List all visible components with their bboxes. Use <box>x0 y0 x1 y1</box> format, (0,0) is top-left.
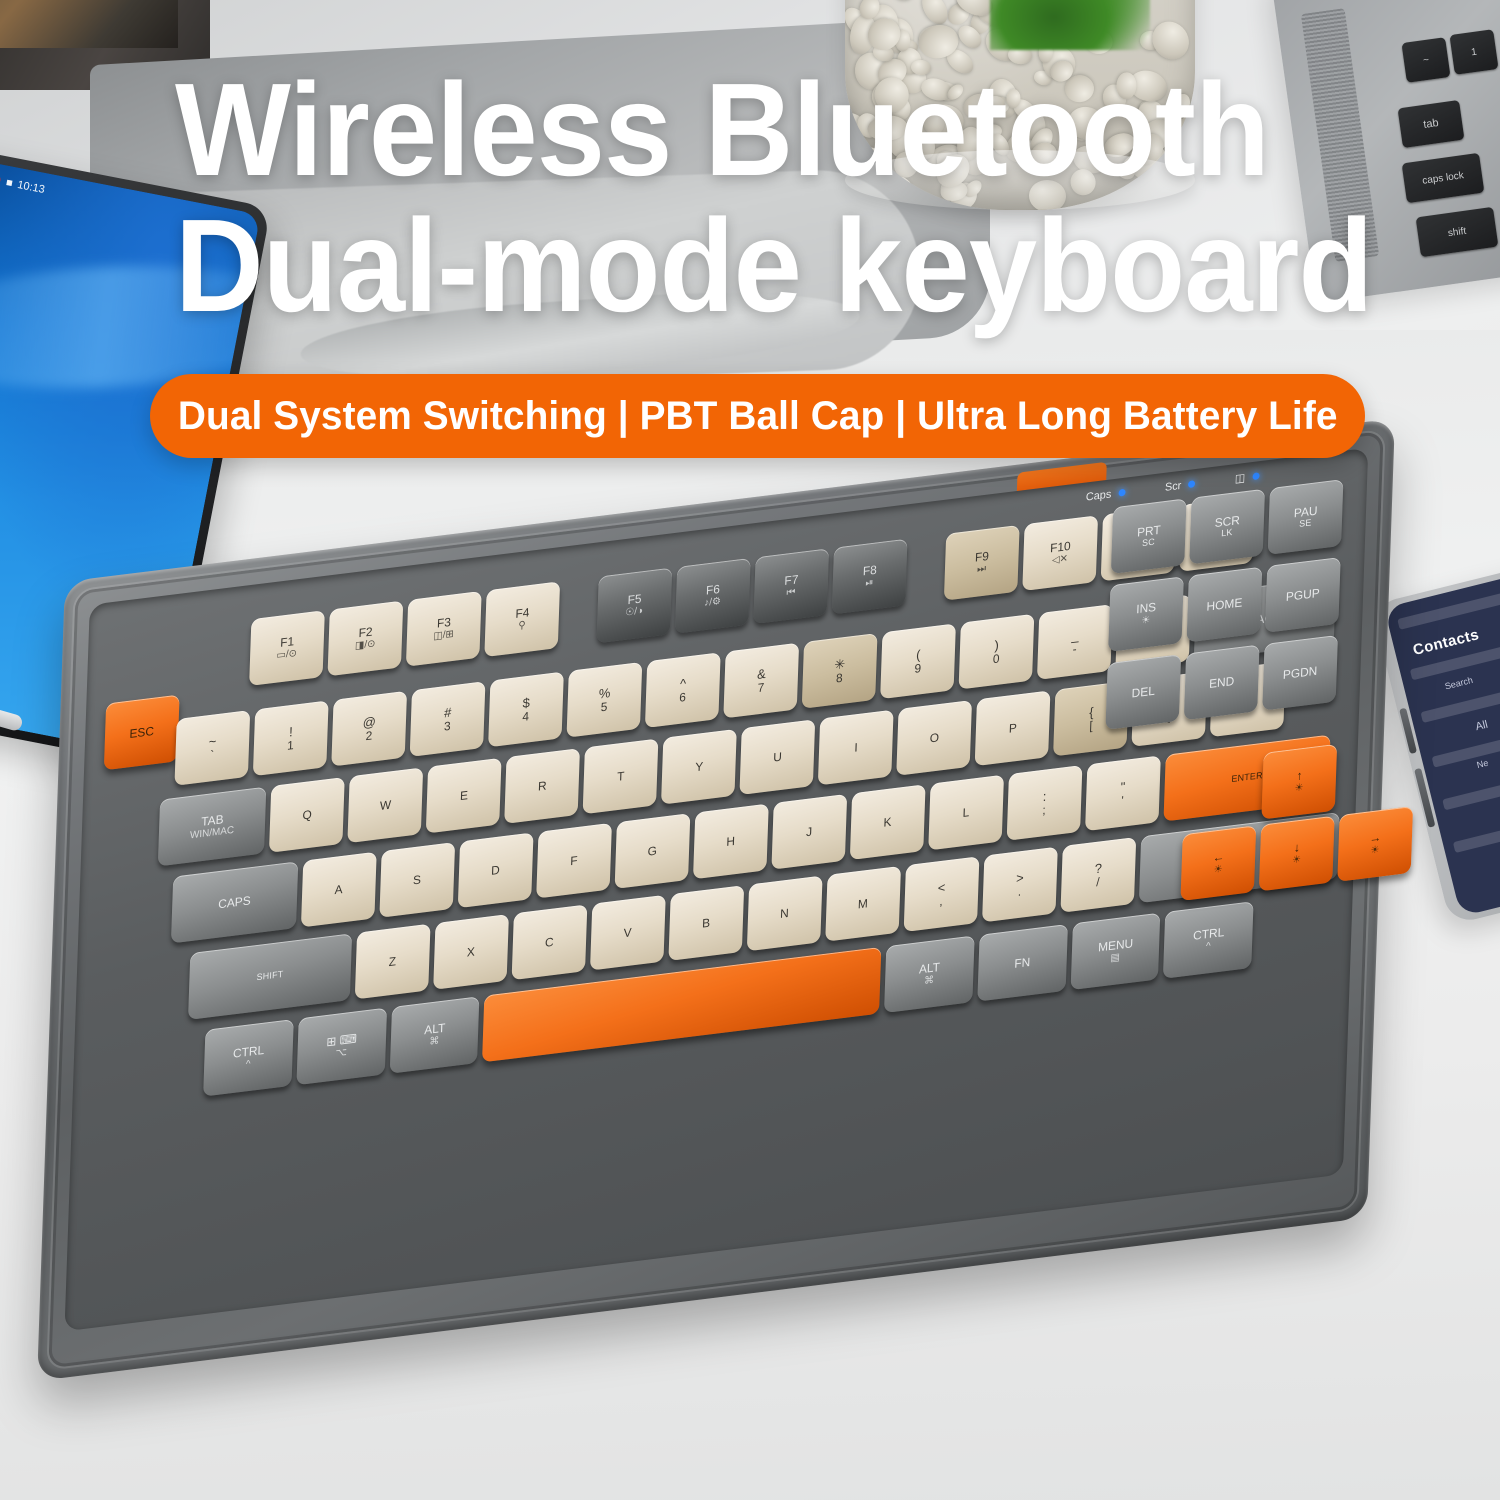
phone-tab-all[interactable]: All <box>1474 719 1489 734</box>
key-pgdn[interactable]: PGDN <box>1262 635 1338 711</box>
laptop-key-tab[interactable]: tab <box>1398 100 1465 148</box>
key-sublegend-icon: ◁✕ <box>1052 554 1068 566</box>
option-icon: ⌥ <box>335 1048 347 1060</box>
key-legend: B <box>702 916 710 930</box>
battery-icon: ◫ <box>1235 471 1246 485</box>
key-legend: ; <box>1042 803 1046 816</box>
key-f9[interactable]: F9⏭ <box>944 525 1020 601</box>
key-legend: N <box>780 907 789 921</box>
key-legend: A <box>334 883 342 897</box>
key-f7[interactable]: F7⏮ <box>753 548 829 624</box>
key-legend: 2 <box>365 729 372 742</box>
key-sublegend-icon: ☀ <box>1141 616 1150 628</box>
key-legend: 1 <box>287 738 294 751</box>
key-legend: P <box>1009 721 1017 735</box>
key-sublegend-icon: ⏮ <box>786 588 795 600</box>
key-8[interactable]: ✳8 <box>802 633 878 709</box>
key-b[interactable]: B <box>668 885 744 961</box>
key-z[interactable]: Z <box>355 924 431 1000</box>
key-legend: PGUP <box>1286 587 1320 604</box>
phone-list-item: Ne <box>1476 758 1490 770</box>
key-ins[interactable]: INS☀ <box>1108 576 1184 652</box>
key-sublegend-icon: ◫/⊞ <box>433 630 454 643</box>
monitor-wallpaper <box>0 0 178 48</box>
key-g[interactable]: G <box>614 813 690 889</box>
key-6[interactable]: ^6 <box>645 652 721 728</box>
key-legend-shifted: > <box>1016 871 1024 886</box>
key-k[interactable]: K <box>850 784 926 860</box>
key-f4[interactable]: F4⚲ <box>484 581 560 657</box>
laptop-key-tilde[interactable]: ~ <box>1401 37 1450 83</box>
headline-line-1: Wireless Bluetooth <box>175 56 1269 203</box>
key-home[interactable]: HOME <box>1187 567 1263 643</box>
key-scr[interactable]: SCRLK <box>1189 489 1265 565</box>
key-legend-shifted: _ <box>1071 628 1079 643</box>
key-legend: F3 <box>437 615 451 629</box>
key-3[interactable]: #3 <box>410 681 486 757</box>
key-f8[interactable]: F8⏯ <box>832 539 908 615</box>
key-pau[interactable]: PAUSE <box>1268 479 1344 555</box>
key-j[interactable]: J <box>771 794 847 870</box>
key-legend: 7 <box>757 681 764 694</box>
key-arrow-down[interactable]: ↓☀ <box>1259 816 1335 892</box>
key-legend: ` <box>210 748 214 761</box>
key-f[interactable]: F <box>536 823 612 899</box>
key-f3[interactable]: F3◫/⊞ <box>406 591 482 667</box>
key-legend: O <box>930 731 940 745</box>
caps-lock-label: Caps <box>1086 488 1112 503</box>
key-end[interactable]: END <box>1184 645 1260 721</box>
key-legend: SHIFT <box>256 970 283 983</box>
key-legend-shifted: ) <box>994 638 999 652</box>
key-h[interactable]: H <box>693 804 769 880</box>
key-legend: ↑ <box>1296 769 1302 782</box>
key-ctrl[interactable]: CTRL^ <box>1163 901 1253 979</box>
key-legend: 4 <box>522 710 529 723</box>
product-ad-scene: ~ 1 tab caps lock shift Contacts Search … <box>0 0 1500 1500</box>
caps-lock-led <box>1118 489 1125 497</box>
key-sublegend-icon: ⏭ <box>977 564 986 576</box>
key-del[interactable]: DEL <box>1105 654 1181 730</box>
key-f10[interactable]: F10◁✕ <box>1022 515 1098 591</box>
key-legend: ALT <box>919 960 940 975</box>
key-legend: C <box>545 935 554 949</box>
key-0[interactable]: )0 <box>959 614 1035 690</box>
key-legend-shifted: ~ <box>209 734 217 749</box>
key-sublegend-icon: ▭/⊙ <box>276 649 297 662</box>
key-[interactable]: ~` <box>174 710 250 786</box>
key-legend: K <box>883 815 891 829</box>
key-a[interactable]: A <box>301 852 377 928</box>
pebble <box>918 0 953 28</box>
key-legend: . <box>1018 885 1022 898</box>
key-legend: F4 <box>515 606 529 620</box>
key-v[interactable]: V <box>590 895 666 971</box>
key-sublegend-icon: ⏯ <box>865 578 873 589</box>
key-legend: Q <box>302 808 312 822</box>
key-legend: R <box>538 779 547 793</box>
key-win-option[interactable]: ⊞ ⌨⌥ <box>296 1008 386 1086</box>
key-legend: ENTER <box>1231 771 1263 784</box>
key-legend: Z <box>389 955 397 969</box>
key-legend-shifted: < <box>938 881 946 896</box>
key-arrow-left[interactable]: ←☀ <box>1180 825 1256 901</box>
key-legend-shifted: & <box>757 667 766 682</box>
headline-line-2: Dual-mode keyboard <box>175 198 1328 334</box>
key-legend: ↓ <box>1294 841 1300 854</box>
battery-led <box>1252 472 1259 480</box>
key-legend-shifted: : <box>1043 790 1047 804</box>
key-sublegend-icon: ▤ <box>1110 953 1120 965</box>
pebble <box>890 0 918 2</box>
key-sublegend-icon: ☀ <box>1294 783 1303 795</box>
key-9[interactable]: (9 <box>880 623 956 699</box>
key-sublegend-icon: ☀ <box>1370 845 1379 857</box>
key-legend: CTRL <box>233 1043 265 1059</box>
scroll-lock-led <box>1188 480 1195 488</box>
key-legend: 0 <box>993 652 1000 665</box>
key-e[interactable]: E <box>426 758 502 834</box>
key-legend: D <box>491 864 500 878</box>
key-legend: F2 <box>358 625 372 639</box>
key-p[interactable]: P <box>975 690 1051 766</box>
key-2[interactable]: @2 <box>331 691 407 767</box>
key-legend: END <box>1209 675 1235 691</box>
key-fn[interactable]: FN <box>977 924 1067 1002</box>
key-prt[interactable]: PRTSC <box>1111 498 1187 574</box>
key-[interactable]: "' <box>1085 755 1161 831</box>
key-legend: F1 <box>280 635 294 649</box>
key-legend: , <box>939 894 943 907</box>
key-legend: - <box>1072 642 1076 655</box>
key-legend: HOME <box>1206 596 1242 613</box>
key-legend: DEL <box>1131 684 1155 699</box>
mechanical-keyboard: Caps Scr ◫ ESCF1▭/⊙F2◨/⊙F3◫/⊞F4⚲F5☉/◑F6♪… <box>37 418 1395 1381</box>
feature-banner: Dual System Switching | PBT Ball Cap | U… <box>150 374 1365 458</box>
key-o[interactable]: O <box>897 700 973 776</box>
key-w[interactable]: W <box>348 767 424 843</box>
feature-banner-text: Dual System Switching | PBT Ball Cap | U… <box>178 394 1338 439</box>
key-legend: F9 <box>975 549 989 563</box>
key-[interactable]: _- <box>1037 604 1113 680</box>
key-legend: J <box>806 825 812 838</box>
key-legend-shifted: ( <box>916 648 921 662</box>
key-legend: 8 <box>836 671 843 684</box>
key-f6[interactable]: F6♪/⚙ <box>675 558 751 634</box>
key-legend: F <box>570 854 578 868</box>
key-legend: V <box>623 926 631 940</box>
key-sublegend-icon: ^ <box>1206 942 1211 953</box>
key-legend: → <box>1369 831 1381 845</box>
key-legend: ALT <box>424 1021 445 1036</box>
scroll-lock-label: Scr <box>1165 479 1182 493</box>
key-f5[interactable]: F5☉/◑ <box>596 568 672 644</box>
key-legend: 5 <box>601 700 608 713</box>
key-legend: ESC <box>129 725 154 741</box>
key-s[interactable]: S <box>379 842 455 918</box>
key-q[interactable]: Q <box>269 777 345 853</box>
key-legend: [ <box>1089 719 1093 732</box>
key-legend: T <box>617 770 625 784</box>
key-menu[interactable]: MENU▤ <box>1070 913 1160 991</box>
key-legend: 3 <box>444 719 451 732</box>
key-arrow-up[interactable]: ↑☀ <box>1261 744 1337 820</box>
key-legend: FN <box>1014 956 1030 971</box>
key-arrow-right[interactable]: →☀ <box>1337 806 1413 882</box>
key-m[interactable]: M <box>825 866 901 942</box>
key-4[interactable]: $4 <box>488 672 564 748</box>
key-legend: X <box>467 945 475 959</box>
key-f1[interactable]: F1▭/⊙ <box>249 610 325 686</box>
key-1[interactable]: !1 <box>253 700 329 776</box>
key-legend: I <box>854 741 858 754</box>
page-title: Wireless Bluetooth Dual-mode keyboard <box>175 62 1328 334</box>
key-r[interactable]: R <box>504 748 580 824</box>
key-legend: L <box>962 806 969 819</box>
silent-icon: 🔇 <box>0 172 2 187</box>
key-legend: F8 <box>863 563 877 577</box>
key-legend: M <box>858 897 868 911</box>
key-legend: CAPS <box>218 894 251 911</box>
key-legend: W <box>380 798 392 812</box>
key-sublegend-icon: WIN/MAC <box>190 826 234 842</box>
key-7[interactable]: &7 <box>723 643 799 719</box>
key-t[interactable]: T <box>583 738 659 814</box>
key-legend: PGDN <box>1283 664 1318 681</box>
windows-icon: ⊞ ⌨ <box>326 1032 357 1048</box>
tablet-status-bar: 👁 ❁ 🔇 ■ 10:13 <box>0 166 46 196</box>
key-tab[interactable]: TABWIN/MAC <box>158 787 267 867</box>
key-legend: H <box>726 835 735 849</box>
key-esc[interactable]: ESC <box>104 695 180 771</box>
key-[interactable]: <, <box>903 856 979 932</box>
key-sublegend-icon: ⌘ <box>429 1036 439 1048</box>
key-sublegend-icon: ◨/⊙ <box>355 639 376 652</box>
key-legend: ← <box>1212 850 1224 864</box>
key-legend: ' <box>1121 794 1124 807</box>
key-legend: INS <box>1136 600 1156 615</box>
phone-search-placeholder[interactable]: Search <box>1444 675 1474 692</box>
key-l[interactable]: L <box>928 775 1004 851</box>
key-sublegend-icon: ⚲ <box>518 621 526 632</box>
key-legend: F5 <box>627 592 641 606</box>
key-c[interactable]: C <box>511 904 587 980</box>
key-legend: G <box>647 844 657 858</box>
key-legend: / <box>1096 875 1100 888</box>
key-d[interactable]: D <box>458 832 534 908</box>
key-legend: U <box>773 750 782 764</box>
key-alt[interactable]: ALT⌘ <box>389 996 479 1074</box>
key-i[interactable]: I <box>818 710 894 786</box>
key-legend-shifted: " <box>1120 780 1125 794</box>
key-sublegend-icon: ♪/⚙ <box>704 597 721 610</box>
tablet-clock: 10:13 <box>16 178 45 195</box>
key-pgup[interactable]: PGUP <box>1265 557 1341 633</box>
key-legend: Y <box>695 760 703 774</box>
key-u[interactable]: U <box>740 719 816 795</box>
key-legend: S <box>413 873 421 887</box>
key-f2[interactable]: F2◨/⊙ <box>327 601 403 677</box>
key-legend: CTRL <box>1193 925 1225 941</box>
key-legend: 9 <box>914 661 921 674</box>
key-legend: 6 <box>679 690 686 703</box>
key-legend: MENU <box>1098 937 1134 954</box>
key-ctrl[interactable]: CTRL^ <box>203 1019 293 1097</box>
battery-icon: ■ <box>5 176 14 189</box>
green-plant <box>990 0 1150 50</box>
key-sublegend-icon: ^ <box>246 1060 251 1071</box>
key-sublegend-icon: ☀ <box>1213 865 1222 877</box>
laptop-key-1[interactable]: 1 <box>1449 29 1498 75</box>
key-legend-2: SC <box>1142 537 1155 548</box>
key-sublegend-icon: ☀ <box>1292 855 1301 867</box>
key-n[interactable]: N <box>747 876 823 952</box>
key-legend: F6 <box>706 582 720 596</box>
key-legend-shifted: ! <box>289 725 293 739</box>
key-legend: F7 <box>784 573 798 587</box>
key-legend-shifted: { <box>1089 705 1094 719</box>
key-legend-shifted: ? <box>1095 861 1103 876</box>
key-legend: E <box>460 789 468 803</box>
key-sublegend-icon: ☉/◑ <box>625 606 643 619</box>
key-5[interactable]: %5 <box>566 662 642 738</box>
key-[interactable]: >. <box>982 847 1058 923</box>
key-alt[interactable]: ALT⌘ <box>884 935 974 1013</box>
key-sublegend-icon: ⌘ <box>924 976 934 988</box>
key-[interactable]: ?/ <box>1060 837 1136 913</box>
key-legend-2: LK <box>1221 527 1233 538</box>
key-y[interactable]: Y <box>661 729 737 805</box>
key-legend-2: SE <box>1299 518 1312 529</box>
key-x[interactable]: X <box>433 914 509 990</box>
key-[interactable]: :; <box>1006 765 1082 841</box>
